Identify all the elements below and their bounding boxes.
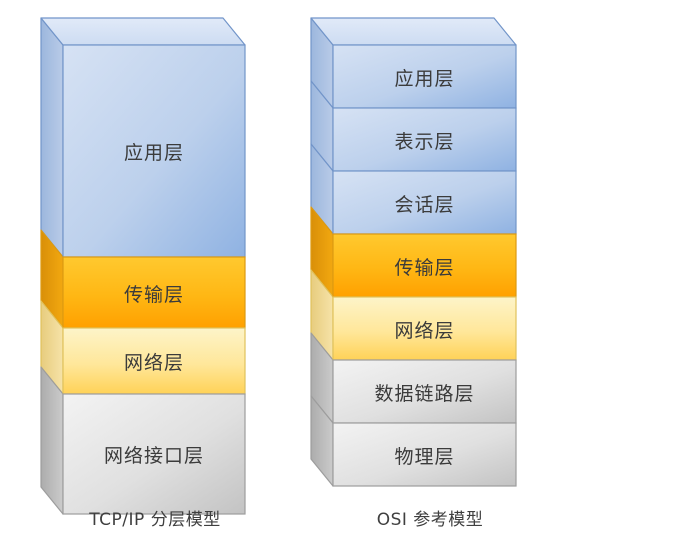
layer-front-face-osi-0 bbox=[333, 45, 516, 108]
layer-top-face-osi bbox=[311, 18, 516, 45]
stack-shapes bbox=[41, 18, 516, 514]
layer-top-face-tcpip bbox=[41, 18, 245, 45]
caption-tcpip: TCP/IP 分层模型 bbox=[55, 505, 255, 530]
layer-front-face-osi-4 bbox=[333, 297, 516, 360]
layer-side-face-tcpip-0 bbox=[41, 18, 63, 257]
layer-front-face-osi-1 bbox=[333, 108, 516, 171]
layer-front-face-osi-2 bbox=[333, 171, 516, 234]
layer-front-face-tcpip-3 bbox=[63, 394, 245, 514]
layer-front-face-tcpip-0 bbox=[63, 45, 245, 257]
layer-front-face-osi-3 bbox=[333, 234, 516, 297]
diagram-root: 应用层传输层网络层网络接口层应用层表示层会话层传输层网络层数据链路层物理层 TC… bbox=[0, 0, 684, 540]
caption-osi: OSI 参考模型 bbox=[330, 505, 530, 530]
layer-front-face-tcpip-1 bbox=[63, 257, 245, 328]
layer-front-face-tcpip-2 bbox=[63, 328, 245, 394]
layer-front-face-osi-6 bbox=[333, 423, 516, 486]
layer-front-face-osi-5 bbox=[333, 360, 516, 423]
stacks-canvas bbox=[0, 0, 684, 540]
layer-side-face-tcpip-3 bbox=[41, 367, 63, 514]
